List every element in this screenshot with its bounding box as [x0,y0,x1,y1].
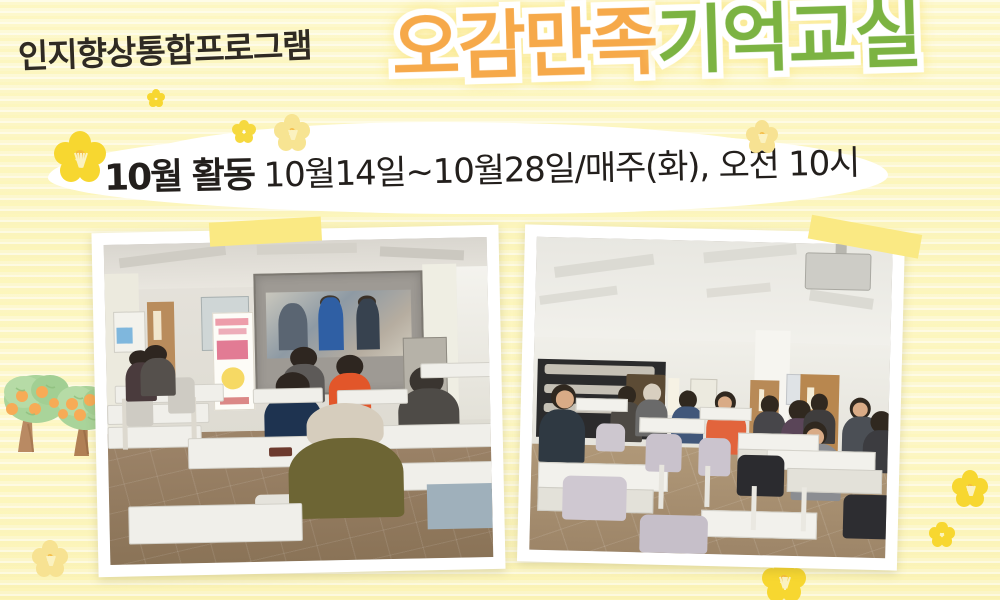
page-title: 오감만족기억교실 [391,0,922,86]
page-title-orange: 오감만족 [391,0,658,92]
program-kicker: 인지향상통합프로그램 [17,19,312,78]
flower-bottom-left [30,538,70,578]
photo-card-classroom-audience [517,224,905,570]
photo-card-classroom-projection [91,225,505,577]
flower-right-large [950,468,990,508]
schedule-month: 10월 활동 [104,155,255,199]
ceiling-projector [804,253,871,291]
poster-canvas: 인지향상통합프로그램 오감만족기억교실 10월 활동 10월14일~10월28일… [0,0,1000,600]
flower-right-small [928,520,956,548]
flower-title-small-1 [146,88,166,108]
page-title-green: 기억교실 [655,0,922,85]
photo-classroom-audience [529,237,893,559]
photo-classroom-projection [104,237,494,565]
